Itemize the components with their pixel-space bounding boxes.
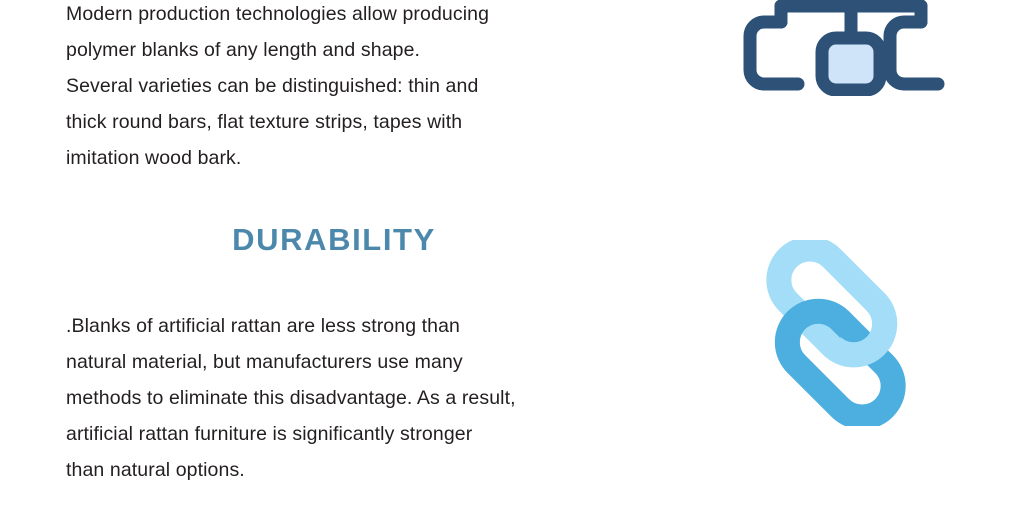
icon-column — [700, 0, 1024, 512]
durability-paragraph: .Blanks of artificial rattan are less st… — [66, 308, 626, 488]
intro-paragraph: Modern production technologies allow pro… — [66, 0, 626, 176]
chain-link-icon — [736, 240, 936, 426]
section-heading-durability: DURABILITY — [66, 222, 602, 258]
infographic-page: Modern production technologies allow pro… — [0, 0, 1024, 512]
hierarchy-diagram-icon — [736, 0, 966, 96]
